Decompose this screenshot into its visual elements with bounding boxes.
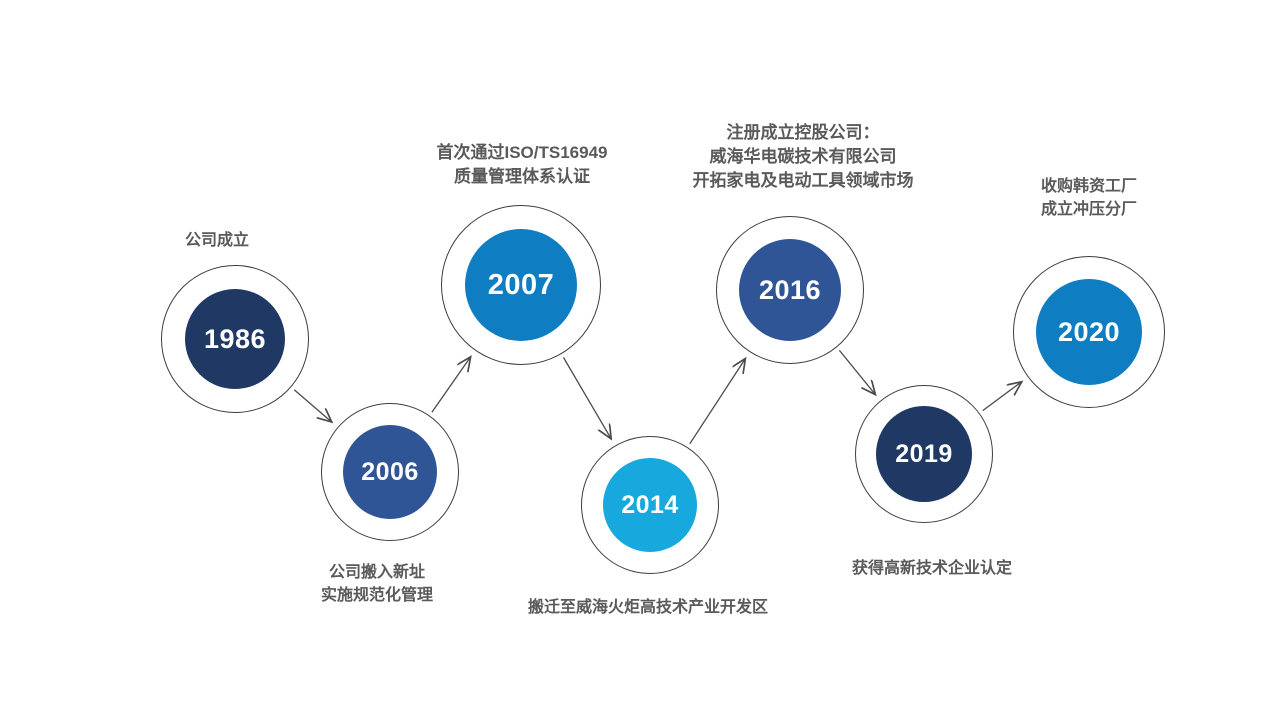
timeline-diagram: 1986200620072014201620192020 公司成立公司搬入新址实… xyxy=(0,0,1280,720)
milestone-caption-2014: 搬迁至威海火炬高技术产业开发区 xyxy=(528,597,768,620)
milestone-core-1986: 1986 xyxy=(185,289,285,389)
milestone-caption-2020: 收购韩资工厂成立冲压分厂 xyxy=(1041,176,1137,221)
milestone-year-label: 1986 xyxy=(204,326,266,353)
milestone-caption-2007: 首次通过ISO/TS16949质量管理体系认证 xyxy=(436,141,607,189)
caption-line: 质量管理体系认证 xyxy=(436,165,607,189)
arrow-2006-to-2007 xyxy=(432,358,470,412)
caption-line: 获得高新技术企业认定 xyxy=(852,558,1012,581)
milestone-caption-2016: 注册成立控股公司：威海华电碳技术有限公司开拓家电及电动工具领域市场 xyxy=(693,121,914,193)
caption-line: 威海华电碳技术有限公司 xyxy=(693,145,914,169)
caption-line: 成立冲压分厂 xyxy=(1041,199,1137,222)
caption-line: 公司成立 xyxy=(185,230,249,253)
milestone-year-label: 2014 xyxy=(621,493,679,518)
milestone-node-2019[interactable]: 2019 xyxy=(855,385,993,523)
milestone-caption-2019: 获得高新技术企业认定 xyxy=(852,558,1012,581)
milestone-year-label: 2019 xyxy=(895,442,953,467)
milestone-node-2007[interactable]: 2007 xyxy=(441,205,601,365)
caption-line: 首次通过ISO/TS16949 xyxy=(436,141,607,165)
caption-line: 开拓家电及电动工具领域市场 xyxy=(693,169,914,193)
arrow-2014-to-2016 xyxy=(690,360,745,444)
milestone-core-2007: 2007 xyxy=(465,229,577,341)
arrow-1986-to-2006 xyxy=(294,390,331,421)
milestone-core-2014: 2014 xyxy=(603,458,697,552)
arrow-2016-to-2019 xyxy=(839,350,874,393)
milestone-core-2006: 2006 xyxy=(343,425,437,519)
milestone-core-2020: 2020 xyxy=(1036,279,1142,385)
milestone-core-2016: 2016 xyxy=(739,239,841,341)
caption-line: 公司搬入新址 xyxy=(321,562,433,585)
milestone-year-label: 2020 xyxy=(1058,319,1120,346)
milestone-year-label: 2006 xyxy=(361,460,419,485)
caption-line: 搬迁至威海火炬高技术产业开发区 xyxy=(528,597,768,620)
caption-line: 收购韩资工厂 xyxy=(1041,176,1137,199)
milestone-year-label: 2016 xyxy=(759,277,821,304)
arrow-2019-to-2020 xyxy=(983,383,1021,411)
caption-line: 注册成立控股公司： xyxy=(693,121,914,145)
caption-line: 实施规范化管理 xyxy=(321,585,433,608)
milestone-core-2019: 2019 xyxy=(876,406,972,502)
milestone-caption-2006: 公司搬入新址实施规范化管理 xyxy=(321,562,433,607)
milestone-node-2020[interactable]: 2020 xyxy=(1013,256,1165,408)
milestone-node-2016[interactable]: 2016 xyxy=(716,216,864,364)
milestone-caption-1986: 公司成立 xyxy=(185,230,249,253)
milestone-node-2006[interactable]: 2006 xyxy=(321,403,459,541)
arrow-2007-to-2014 xyxy=(564,358,611,438)
milestone-year-label: 2007 xyxy=(488,271,555,300)
milestone-node-1986[interactable]: 1986 xyxy=(161,265,309,413)
milestone-node-2014[interactable]: 2014 xyxy=(581,436,719,574)
